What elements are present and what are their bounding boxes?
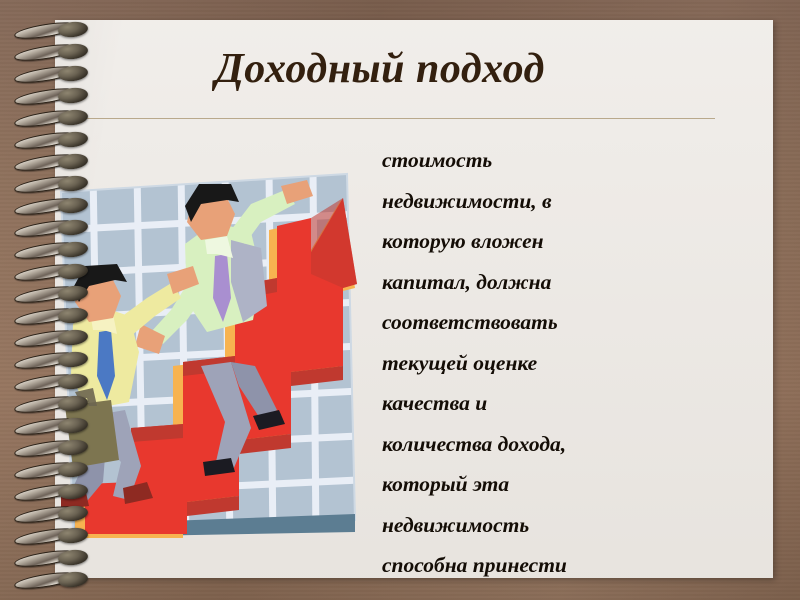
spiral-ring-icon <box>0 220 108 235</box>
spiral-ring-icon <box>0 440 108 455</box>
title-divider <box>65 118 715 119</box>
spiral-binding <box>0 0 120 600</box>
spiral-ring-icon <box>0 110 108 125</box>
body-text-line: недвижимости, в <box>382 181 712 222</box>
spiral-ring-icon <box>0 506 108 521</box>
spiral-ring-icon <box>0 528 108 543</box>
spiral-ring-icon <box>0 286 108 301</box>
slide-title: Доходный подход <box>60 45 700 93</box>
spiral-ring-icon <box>0 550 108 565</box>
body-text-line: соответствовать <box>382 302 712 343</box>
spiral-ring-icon <box>0 484 108 499</box>
spiral-ring-icon <box>0 308 108 323</box>
body-text-line: стоимость <box>382 140 712 181</box>
spiral-ring-icon <box>0 132 108 147</box>
spiral-ring-icon <box>0 88 108 103</box>
body-text-line: способна принести <box>382 545 712 586</box>
body-text-line: недвижимость <box>382 505 712 546</box>
spiral-ring-icon <box>0 264 108 279</box>
spiral-ring-icon <box>0 66 108 81</box>
spiral-ring-icon <box>0 418 108 433</box>
spiral-ring-icon <box>0 176 108 191</box>
body-text-line: который эта <box>382 464 712 505</box>
presentation-slide: Доходный подход стоимостьнедвижимости, в… <box>0 0 800 600</box>
body-text-line: которую вложен <box>382 221 712 262</box>
body-text-line: количества дохода, <box>382 424 712 465</box>
spiral-ring-icon <box>0 396 108 411</box>
spiral-ring-icon <box>0 330 108 345</box>
body-text-line: капитал, должна <box>382 262 712 303</box>
spiral-ring-icon <box>0 462 108 477</box>
body-text-line: текущей оценке <box>382 343 712 384</box>
spiral-ring-icon <box>0 374 108 389</box>
spiral-ring-icon <box>0 44 108 59</box>
spiral-ring-icon <box>0 22 108 37</box>
spiral-ring-icon <box>0 154 108 169</box>
slide-body-text: стоимостьнедвижимости, вкоторую вложенка… <box>382 140 712 586</box>
body-text-line: качества и <box>382 383 712 424</box>
spiral-ring-icon <box>0 242 108 257</box>
spiral-ring-icon <box>0 352 108 367</box>
spiral-ring-icon <box>0 572 108 587</box>
spiral-ring-icon <box>0 198 108 213</box>
